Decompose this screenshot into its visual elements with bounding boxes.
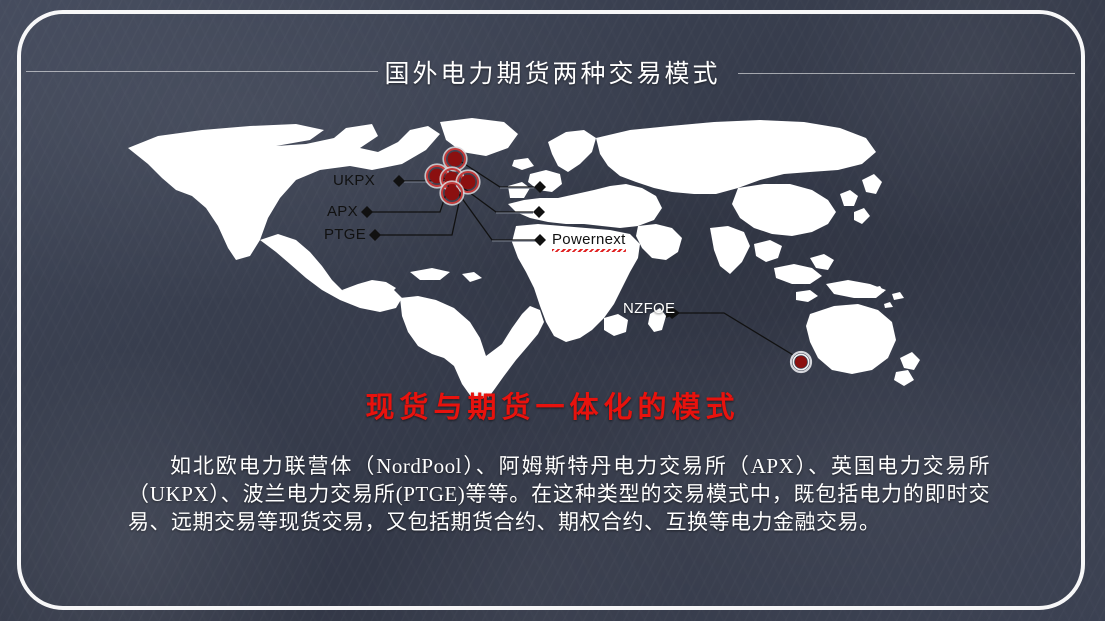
map-landmasses	[128, 118, 920, 398]
body-paragraph: 如北欧电力联营体（NordPool）、阿姆斯特丹电力交易所（APX）、英国电力交…	[128, 452, 990, 536]
world-map	[110, 108, 910, 398]
section-heading: 现货与期货一体化的模式	[0, 384, 1105, 426]
slide-canvas: 国外电力期货两种交易模式	[0, 0, 1105, 621]
page-title: 国外电力期货两种交易模式	[0, 54, 1105, 90]
